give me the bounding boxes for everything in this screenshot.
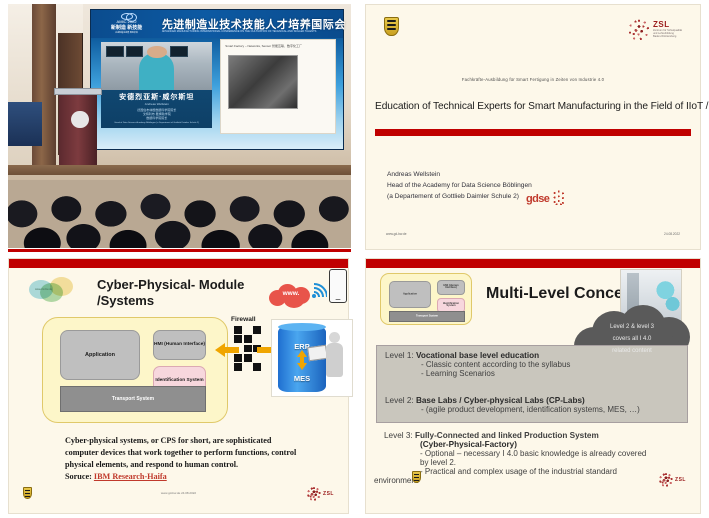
- level-1-label: Level 1:: [385, 351, 414, 360]
- zsl-dots-icon: [659, 473, 673, 487]
- source-link-ibm-research-haifa[interactable]: IBM Research-Haifa: [94, 472, 167, 481]
- speaker-title-cn-3: 数据科学院院长: [101, 116, 212, 121]
- photo-frame: AMIC 2022 新制造 新技能 先进制造业技能 国际会议 先进制造业技术技能…: [8, 4, 351, 248]
- speaker-name-cn: 安德烈亚斯·威尔斯坦: [101, 92, 212, 102]
- level-1-item-1: - Classic content according to the sylla…: [421, 360, 679, 369]
- block-application: Application: [60, 330, 140, 380]
- baden-wuerttemberg-crest-icon: [23, 487, 32, 499]
- panel-red-accent: [8, 249, 351, 252]
- slide-red-header-bar: [9, 259, 348, 268]
- level-2-heading: Level 2: Base Labs / Cyber-physical Labs…: [385, 396, 679, 405]
- erp-mes-illustration: ERP MES: [271, 319, 353, 397]
- operator-figure-icon: [322, 332, 348, 388]
- slide-footer-date: 24.08.2022: [664, 232, 680, 236]
- speaker-video-image: [101, 42, 212, 90]
- cloud-line-3: related content: [570, 345, 694, 357]
- slide-tile-image: [228, 55, 299, 109]
- block-hmi: HMI (Human Interface): [153, 330, 206, 360]
- level-3-item-2: by level 2.: [420, 458, 690, 467]
- gdse-dot-grid-icon: [552, 190, 565, 205]
- gdse-logo: gdse: [526, 190, 565, 205]
- screen-banner: AMIC 2022 新制造 新技能 先进制造业技能 国际会议 先进制造业技术技能…: [91, 10, 343, 38]
- mini-block-application: Application: [389, 281, 431, 308]
- level-2-block: Level 2: Base Labs / Cyber-physical Labs…: [385, 396, 679, 414]
- level-3-label: Level 3:: [384, 431, 413, 440]
- cps-caption-line1: Cyber-physical systems, or CPS for short…: [65, 435, 336, 447]
- venn-logo-label: www.zsl-bw.de: [35, 288, 52, 291]
- level-1-title: Vocational base level education: [416, 351, 539, 360]
- screenshot-root: AMIC 2022 新制造 新技能 先进制造业技能 国际会议 先进制造业技术技能…: [0, 0, 709, 518]
- panel-multi-level-slide: Application HMI (Human Interface) Identi…: [357, 254, 709, 518]
- www-label: www.: [267, 290, 315, 297]
- mini-hmi-label: HMI (Human Interface): [438, 285, 464, 291]
- cps-slide-footer: www.gd-bw.de 24.08.2022: [161, 491, 196, 495]
- level-3-block: Level 3: Fully-Connected and linked Prod…: [384, 431, 690, 485]
- cps-caption-line2: computer devices that work together to p…: [65, 447, 336, 459]
- slide-red-header-bar: [366, 259, 700, 268]
- panel-conference-photo: AMIC 2022 新制造 新技能 先进制造业技能 国际会议 先进制造业技术技能…: [0, 0, 357, 254]
- panel-title-slide: ZSL Zentrum für Schulqualität und Lehrer…: [357, 0, 709, 254]
- auditorium-photo: AMIC 2022 新制造 新技能 先进制造业技能 国际会议 先进制造业技术技能…: [8, 4, 351, 248]
- amic-logo-icon: AMIC 2022 新制造 新技能 先进制造业技能 国际会议: [99, 12, 154, 36]
- level-2-label: Level 2:: [385, 396, 414, 405]
- slide-kicker: Fachkräfte-Ausbildung für Smart Fertigun…: [462, 77, 604, 82]
- mini-block-transport: Transport System: [389, 311, 465, 322]
- zsl-logo-small: ZSL: [307, 487, 334, 501]
- slide-footer-url: www.gd-bw.de: [386, 232, 407, 236]
- stage-table: [8, 102, 42, 146]
- level-3-heading: Level 3: Fully-Connected and linked Prod…: [384, 431, 690, 440]
- title-slide: ZSL Zentrum für Schulqualität und Lehrer…: [365, 4, 701, 250]
- author-org: (a Departement of Gottlieb Daimler Schul…: [387, 192, 532, 203]
- zsl-venn-logo-icon: www.zsl-bw.de: [29, 277, 74, 303]
- mini-transport-label: Transport System: [390, 315, 464, 318]
- zsl-name: ZSL: [675, 477, 686, 483]
- amic-logo-cn-small: 先进制造业技能 国际会议: [115, 32, 138, 34]
- mini-application-label: Application: [390, 293, 430, 296]
- mini-block-hmi: HMI (Human Interface): [437, 280, 465, 295]
- lectern-emblem: [71, 111, 88, 128]
- gdse-wordmark: gdse: [526, 193, 549, 205]
- stage-edge: [8, 165, 351, 175]
- cps-caption-line3: physical elements, and respond to human …: [65, 459, 336, 471]
- zsl-dots-icon: [307, 487, 321, 501]
- level-1-item-2: - Learning Scenarios: [421, 369, 679, 378]
- level-3-subheading: (Cyber-Physical-Factory): [420, 440, 690, 449]
- panel-cps-slide: www.zsl-bw.de Cyber-Physical- Module /Sy…: [0, 254, 357, 518]
- slide-tile-header: Smart Factory – Networks, Sensor 智能互联、数字…: [225, 44, 302, 48]
- screen-banner-title-en: ADVANCED MANUFACTURING INTERNATIONAL CON…: [162, 30, 317, 33]
- speaker-head: [147, 46, 167, 59]
- level-3-item-3: - Practical and complex usage of the ind…: [420, 467, 690, 476]
- monitor-icon: [106, 46, 124, 58]
- cloud-text: Level 2 & level 3 covers all I 4.0 relat…: [570, 321, 694, 357]
- zsl-logo: ZSL Zentrum für Schulqualität und Lehrer…: [628, 19, 682, 41]
- firewall-label: Firewall: [231, 316, 256, 323]
- lectern-top: [54, 88, 102, 95]
- speaker-video-tile: 安德烈亚斯·威尔斯坦 Andreas Wellstein 德国伯布林根数据科学院…: [101, 42, 212, 128]
- projection-screen: AMIC 2022 新制造 新技能 先进制造业技能 国际会议 先进制造业技术技能…: [90, 9, 344, 151]
- baden-wuerttemberg-crest-icon: [384, 17, 399, 36]
- smartphone-icon: [329, 269, 347, 303]
- zsl-logo-small: ZSL: [659, 473, 686, 487]
- level-3-title: Fully-Connected and linked Production Sy…: [415, 431, 599, 440]
- presentation-slide-tile: Smart Factory – Networks, Sensor 智能互联、数字…: [220, 39, 336, 134]
- level-3-item-4: environment: [374, 476, 690, 485]
- slide-main-title: Education of Technical Experts for Smart…: [375, 101, 691, 112]
- cps-title-line2: /Systems: [97, 293, 244, 309]
- monitor-icon: [170, 46, 188, 58]
- speaker-title-en: Head of Data Science Academy Böblingen (…: [101, 122, 212, 125]
- cloud-line-1: Level 2 & level 3: [570, 321, 694, 333]
- title-red-rule: [375, 129, 691, 136]
- cps-slide: www.zsl-bw.de Cyber-Physical- Module /Sy…: [8, 258, 349, 514]
- speaker-body: [139, 53, 174, 91]
- mini-identification-label: Identification System: [438, 303, 464, 309]
- speaker-name-en: Andreas Wellstein: [101, 102, 212, 107]
- amic-ring-icon: [121, 13, 133, 20]
- cps-caption: Cyber-physical systems, or CPS for short…: [65, 435, 336, 483]
- lectern: [59, 92, 97, 165]
- cps-title-line1: Cyber-Physical- Module: [97, 277, 244, 293]
- mini-cps-diagram: Application HMI (Human Interface) Identi…: [380, 273, 472, 325]
- zsl-sub-3: Baden-Württemberg: [653, 36, 682, 39]
- zsl-text: ZSL Zentrum für Schulqualität und Lehrer…: [653, 21, 682, 38]
- level-3-item-1: - Optional – necessary I 4.0 basic knowl…: [420, 449, 690, 458]
- author-role: Head of the Academy for Data Science Böb…: [387, 181, 532, 192]
- source-label: Soruce:: [65, 472, 94, 481]
- internet-cloud-icon: www.: [267, 281, 315, 309]
- monitor-icon: [126, 46, 144, 58]
- vertical-arrow-icon: [296, 350, 308, 370]
- level-2-title: Base Labs / Cyber-physical Labs (CP-Labs…: [416, 396, 585, 405]
- baden-wuerttemberg-crest-icon: [412, 471, 421, 483]
- level-2-item-1: - (agile product development, identifica…: [421, 405, 679, 414]
- cps-source-line: Soruce: IBM Research-Haifa: [65, 471, 336, 483]
- multi-level-slide: Application HMI (Human Interface) Identi…: [365, 258, 701, 514]
- block-transport-system: Transport System: [60, 386, 206, 412]
- mes-label: MES: [278, 374, 326, 383]
- author-name: Andreas Wellstein: [387, 170, 532, 181]
- cps-slide-title: Cyber-Physical- Module /Systems: [97, 277, 244, 310]
- cloud-line-2: covers all I 4.0: [570, 333, 694, 345]
- zsl-dots-icon: [628, 19, 650, 41]
- cps-container-box: Application HMI (Human Interface) Identi…: [42, 317, 228, 423]
- slide-byline: Andreas Wellstein Head of the Academy fo…: [387, 170, 532, 203]
- zsl-name: ZSL: [323, 491, 334, 497]
